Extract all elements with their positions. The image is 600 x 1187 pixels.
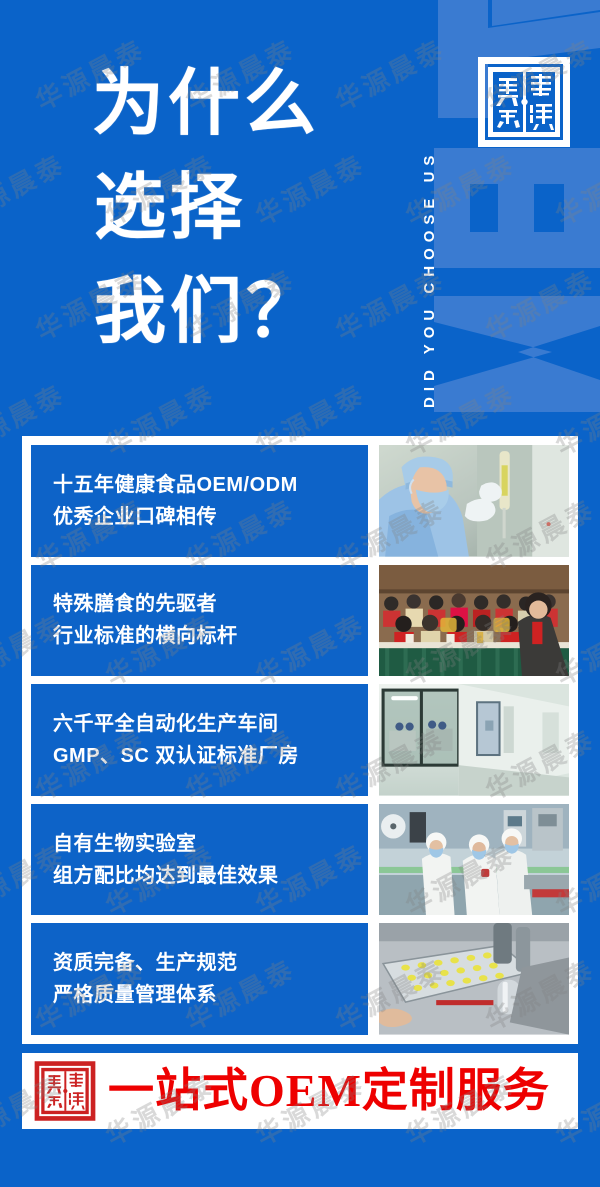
watermark-text: 华源晨泰 bbox=[328, 1179, 451, 1187]
feature-text-4: 自有生物实验室 组方配比均达到最佳效果 bbox=[31, 804, 368, 916]
feature-text-1: 十五年健康食品OEM/ODM 优秀企业口碑相传 bbox=[31, 445, 368, 557]
feature-2-line-2: 行业标准的横向标杆 bbox=[53, 620, 368, 652]
list-item[interactable]: 十五年健康食品OEM/ODM 优秀企业口碑相传 bbox=[31, 445, 569, 557]
tablet-packaging-line-photo bbox=[379, 923, 569, 1035]
feature-1-line-2: 优秀企业口碑相传 bbox=[53, 501, 368, 533]
lab-technician-checking-iv-bag-photo bbox=[379, 445, 569, 557]
watermark-text: 华源晨泰 bbox=[0, 949, 2, 1038]
feature-text-3: 六千平全自动化生产车间 GMP、SC 双认证标准厂房 bbox=[31, 684, 368, 796]
page-title: 为什么 选择 我们？ bbox=[92, 52, 322, 364]
features-list: 十五年健康食品OEM/ODM 优秀企业口碑相传 bbox=[31, 445, 569, 1035]
watermark-text: 华源晨泰 bbox=[478, 1179, 600, 1187]
title-line-3: 我们？ bbox=[92, 260, 322, 364]
list-item[interactable]: 自有生物实验室 组方配比均达到最佳效果 bbox=[31, 804, 569, 916]
feature-5-line-1: 资质完备、生产规范 bbox=[53, 947, 368, 979]
feature-2-line-1: 特殊膳食的先驱者 bbox=[53, 588, 368, 620]
huayuan-chentai-seal-icon bbox=[474, 52, 574, 152]
feature-1-line-1: 十五年健康食品OEM/ODM bbox=[53, 469, 368, 501]
huayuan-chentai-seal-red-icon bbox=[32, 1058, 98, 1124]
watermark-text: 华源晨泰 bbox=[178, 1179, 301, 1187]
bottom-banner[interactable]: 一站式OEM定制服务 bbox=[22, 1053, 578, 1129]
feature-text-5: 资质完备、生产规范 严格质量管理体系 bbox=[31, 923, 368, 1035]
watermark-text: 华源晨泰 bbox=[0, 1179, 2, 1187]
title-line-1: 为什么 bbox=[92, 52, 322, 156]
feature-4-line-2: 组方配比均达到最佳效果 bbox=[53, 860, 368, 892]
vertical-english-subtitle: DID YOU CHOOSE US bbox=[408, 18, 438, 408]
title-line-2: 选择 bbox=[92, 156, 322, 260]
feature-text-2: 特殊膳食的先驱者 行业标准的横向标杆 bbox=[31, 565, 368, 677]
poster-root: 为什么 选择 我们？ DID YOU CHOOSE US bbox=[0, 0, 600, 1187]
poster-header: 为什么 选择 我们？ DID YOU CHOOSE US bbox=[0, 0, 600, 432]
watermark-text: 华源晨泰 bbox=[28, 1179, 151, 1187]
list-item[interactable]: 资质完备、生产规范 严格质量管理体系 bbox=[31, 923, 569, 1035]
feature-3-line-1: 六千平全自动化生产车间 bbox=[53, 708, 368, 740]
conference-audience-photo bbox=[379, 565, 569, 677]
watermark-text: 华源晨泰 bbox=[0, 719, 2, 808]
features-frame: 十五年健康食品OEM/ODM 优秀企业口碑相传 bbox=[22, 436, 578, 1044]
list-item[interactable]: 特殊膳食的先驱者 行业标准的横向标杆 bbox=[31, 565, 569, 677]
feature-5-line-2: 严格质量管理体系 bbox=[53, 979, 368, 1011]
automated-production-workshop-photo bbox=[379, 684, 569, 796]
watermark-text: 华源晨泰 bbox=[0, 489, 2, 578]
biology-laboratory-staff-photo bbox=[379, 804, 569, 916]
list-item[interactable]: 六千平全自动化生产车间 GMP、SC 双认证标准厂房 bbox=[31, 684, 569, 796]
feature-4-line-1: 自有生物实验室 bbox=[53, 828, 368, 860]
feature-3-line-2: GMP、SC 双认证标准厂房 bbox=[53, 740, 368, 772]
banner-slogan: 一站式OEM定制服务 bbox=[108, 1065, 550, 1117]
